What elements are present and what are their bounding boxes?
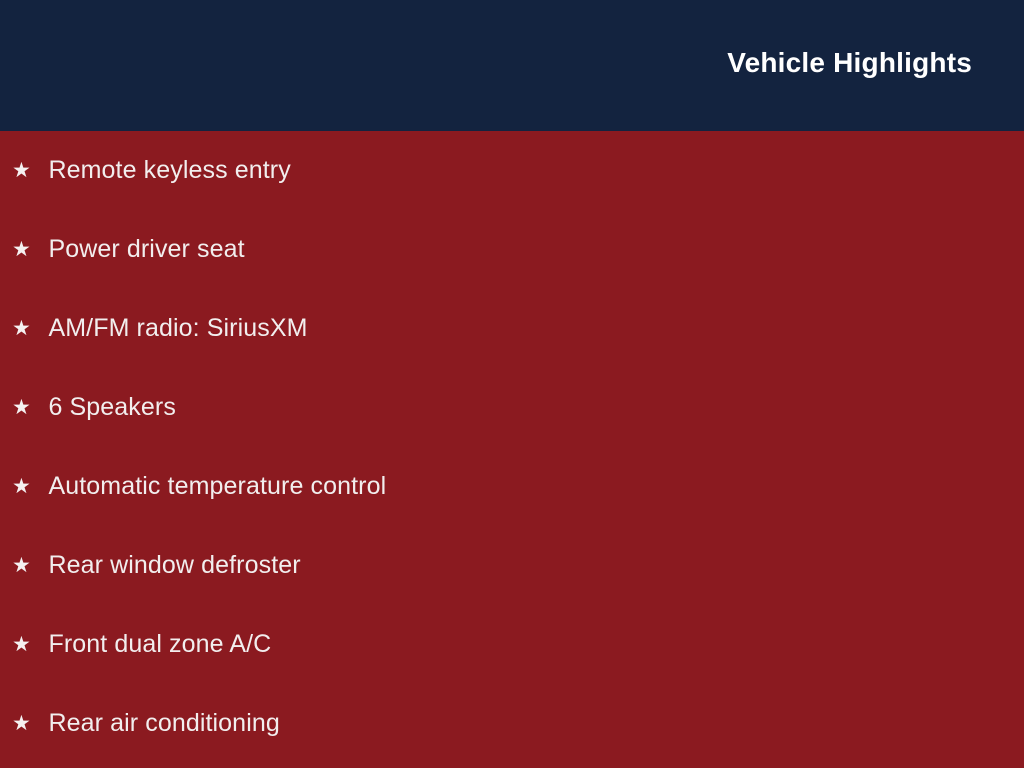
vehicle-highlights-slide: Vehicle Highlights ★ Remote keyless entr…	[0, 0, 1024, 768]
star-bullet-icon: ★	[12, 605, 44, 684]
star-bullet-icon: ★	[12, 447, 44, 526]
list-item-label: AM/FM radio: SiriusXM	[48, 289, 307, 368]
list-item-label: Power driver seat	[48, 210, 244, 289]
star-bullet-icon: ★	[12, 289, 44, 368]
list-item-label: 6 Speakers	[48, 368, 175, 447]
list-item-label: Automatic temperature control	[48, 447, 386, 526]
list-item-label: Remote keyless entry	[48, 131, 290, 210]
star-bullet-icon: ★	[12, 526, 44, 605]
list-item: ★ Front dual zone A/C	[0, 605, 1024, 684]
highlights-body: ★ Remote keyless entry ★ Power driver se…	[0, 131, 1024, 768]
list-item-label: Rear air conditioning	[48, 684, 279, 763]
slide-header-band: Vehicle Highlights	[0, 0, 1024, 131]
list-item: ★ Rear air conditioning	[0, 684, 1024, 763]
list-item-label: Rear window defroster	[48, 526, 300, 605]
list-item: ★ Remote keyless entry	[0, 131, 1024, 210]
list-item-label: Front dual zone A/C	[48, 605, 271, 684]
list-item: ★ Automatic temperature control	[0, 447, 1024, 526]
list-item: ★ AM/FM radio: SiriusXM	[0, 289, 1024, 368]
star-bullet-icon: ★	[12, 131, 44, 210]
star-bullet-icon: ★	[12, 684, 44, 763]
vehicle-highlights-list: ★ Remote keyless entry ★ Power driver se…	[0, 131, 1024, 763]
list-item: ★ Rear window defroster	[0, 526, 1024, 605]
star-bullet-icon: ★	[12, 210, 44, 289]
list-item: ★ Power driver seat	[0, 210, 1024, 289]
star-bullet-icon: ★	[12, 368, 44, 447]
list-item: ★ 6 Speakers	[0, 368, 1024, 447]
page-title: Vehicle Highlights	[727, 45, 972, 81]
